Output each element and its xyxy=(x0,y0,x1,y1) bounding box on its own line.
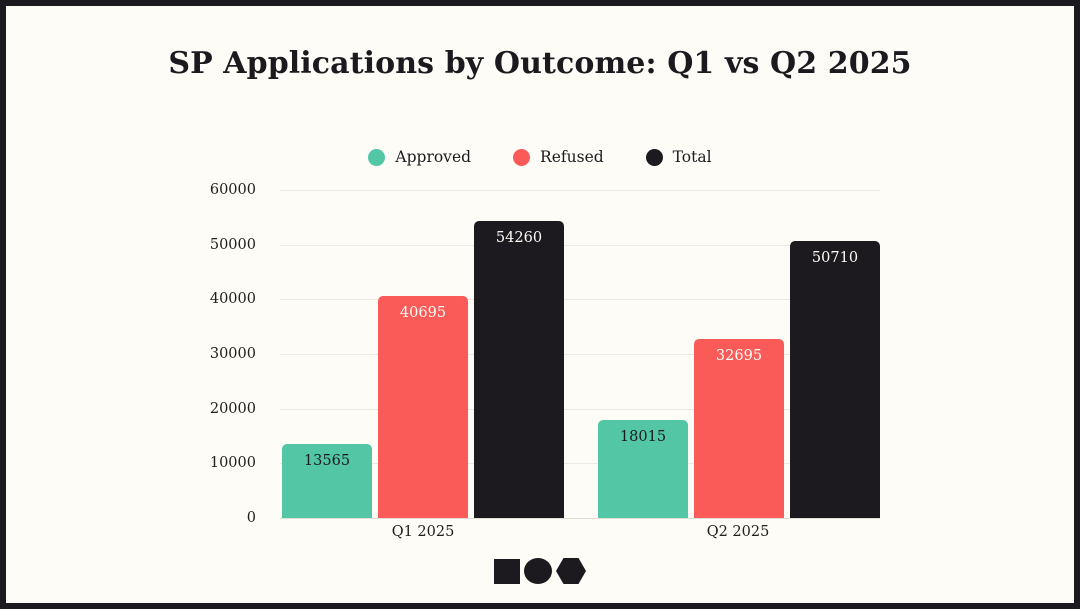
bar-value-q2-total: 50710 xyxy=(790,250,880,266)
legend-label-refused: Refused xyxy=(540,148,604,166)
y-tick-label-0: 0 xyxy=(6,510,268,526)
gridline-baseline xyxy=(280,518,880,519)
brand-logo xyxy=(6,558,1074,584)
circle-icon xyxy=(524,558,552,584)
bar-q2-refused[interactable]: 32695 xyxy=(694,339,784,518)
chart-title: SP Applications by Outcome: Q1 vs Q2 202… xyxy=(6,46,1074,81)
x-tick-label-q2: Q2 2025 xyxy=(596,524,880,540)
bar-value-q1-total: 54260 xyxy=(474,230,564,246)
bar-q2-approved[interactable]: 18015 xyxy=(598,420,688,518)
bar-value-q1-refused: 40695 xyxy=(378,305,468,321)
legend-swatch-total xyxy=(646,149,663,166)
y-tick-label-20000: 20000 xyxy=(6,401,268,417)
legend-swatch-refused xyxy=(513,149,530,166)
bar-q1-approved[interactable]: 13565 xyxy=(282,444,372,518)
bar-q1-total[interactable]: 54260 xyxy=(474,221,564,518)
slide-canvas: SP Applications by Outcome: Q1 vs Q2 202… xyxy=(6,6,1074,603)
bar-q1-refused[interactable]: 40695 xyxy=(378,296,468,518)
bar-value-q1-approved: 13565 xyxy=(282,453,372,469)
y-tick-label-60000: 60000 xyxy=(6,182,268,198)
square-icon xyxy=(494,559,520,584)
hexagon-icon xyxy=(556,558,586,584)
gridline-60000 xyxy=(280,190,880,191)
plot-area: 13565 40695 54260 18015 32695 50710 xyxy=(280,190,880,518)
y-tick-label-30000: 30000 xyxy=(6,346,268,362)
bar-q2-total[interactable]: 50710 xyxy=(790,241,880,518)
legend-item-refused[interactable]: Refused xyxy=(513,148,604,166)
bar-value-q2-refused: 32695 xyxy=(694,348,784,364)
x-tick-label-q1: Q1 2025 xyxy=(280,524,566,540)
legend-swatch-approved xyxy=(368,149,385,166)
y-tick-label-50000: 50000 xyxy=(6,237,268,253)
y-tick-label-10000: 10000 xyxy=(6,455,268,471)
legend-label-total: Total xyxy=(673,148,712,166)
legend-label-approved: Approved xyxy=(395,148,471,166)
chart-legend: Approved Refused Total xyxy=(6,148,1074,166)
y-axis: 60000 50000 40000 30000 20000 10000 0 xyxy=(6,190,268,518)
legend-item-total[interactable]: Total xyxy=(646,148,712,166)
legend-item-approved[interactable]: Approved xyxy=(368,148,471,166)
bar-value-q2-approved: 18015 xyxy=(598,429,688,445)
y-tick-label-40000: 40000 xyxy=(6,291,268,307)
